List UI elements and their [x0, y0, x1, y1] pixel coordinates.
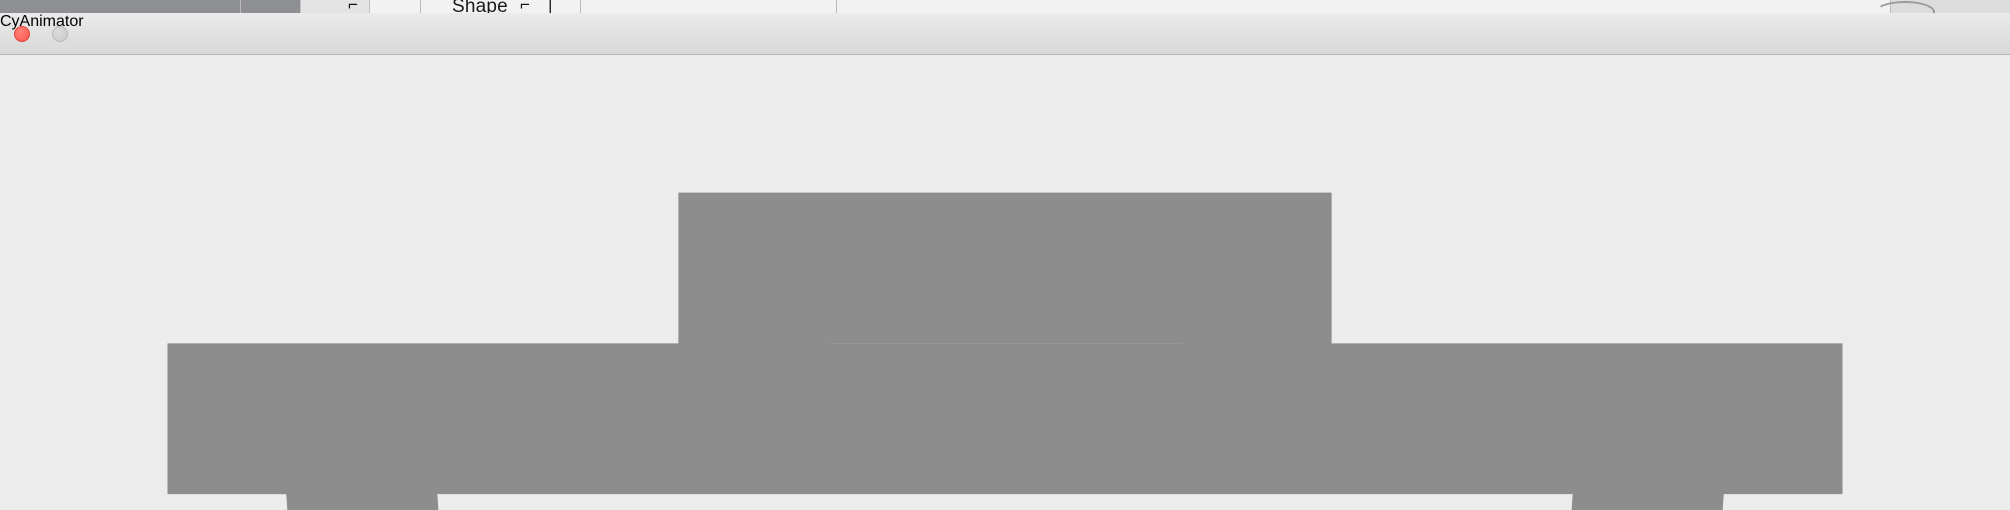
toolbar: Clear All Frames [0, 0, 2010, 510]
background-glyph: ∣ [546, 0, 555, 13]
background-shape-label: Shape [452, 0, 508, 13]
delete-frame-button[interactable] [0, 0, 2010, 510]
cyanimator-window: ⌐ ⌐ ∣ Shape CyAnimator Clear All Frame [0, 0, 2010, 510]
background-glyph: ⌐ [348, 0, 358, 13]
background-window-strip: ⌐ ⌐ ∣ Shape [0, 0, 2010, 13]
background-block [300, 0, 370, 13]
background-divider [836, 0, 837, 13]
background-divider [420, 0, 421, 13]
minimize-button[interactable] [52, 26, 68, 42]
background-divider [240, 0, 241, 13]
window-title: CyAnimator [0, 13, 2010, 31]
background-divider [580, 0, 581, 13]
title-bar[interactable]: CyAnimator [0, 13, 2010, 55]
background-glyph: ⌐ [520, 0, 530, 13]
trash-icon [0, 0, 2010, 510]
background-toolbar-dark [0, 0, 300, 13]
close-button[interactable] [14, 26, 30, 42]
maximize-button[interactable] [0, 26, 16, 42]
